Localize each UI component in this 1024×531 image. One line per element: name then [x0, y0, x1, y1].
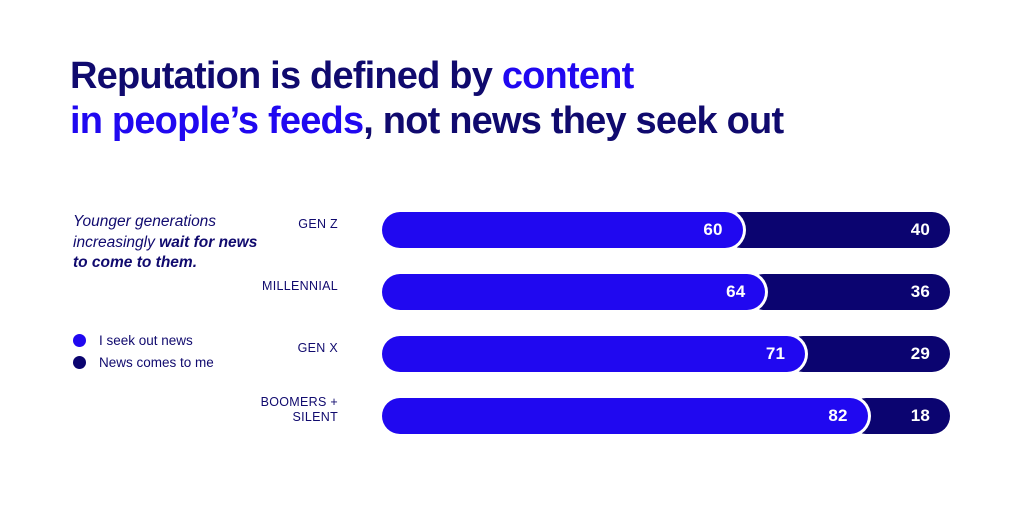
row-label: MILLENNIAL: [168, 268, 338, 304]
chart-row: MILLENNIAL 36 64: [0, 268, 1024, 330]
chart-row: GEN X 29 71: [0, 330, 1024, 392]
bar-value-primary: 82: [828, 406, 867, 426]
bar-value-primary: 60: [703, 220, 742, 240]
bar-segment-secondary: 40: [723, 212, 950, 248]
bar-value-secondary: 40: [911, 220, 950, 240]
bar-segment-primary: 71: [382, 336, 805, 372]
bar-value-secondary: 18: [911, 406, 950, 426]
bar-segment-primary: 60: [382, 212, 743, 248]
row-label: GEN X: [168, 330, 338, 366]
bar-segment-secondary: 36: [746, 274, 950, 310]
title-line-2: in people’s feeds, not news they seek ou…: [70, 100, 783, 142]
bar-track: 36 64: [382, 274, 950, 310]
title-line-1: Reputation is defined by content: [70, 55, 633, 97]
bar-value-secondary: 29: [911, 344, 950, 364]
title-text-accent-1: content: [502, 55, 634, 97]
bar-value-secondary: 36: [911, 282, 950, 302]
title-text-dark-2: , not news they seek out: [363, 100, 783, 142]
bar-segment-secondary: 29: [785, 336, 950, 372]
title-text-accent-2: in people’s feeds: [70, 100, 363, 142]
bar-value-primary: 64: [726, 282, 765, 302]
row-label: GEN Z: [168, 206, 338, 242]
chart-row: GEN Z 40 60: [0, 206, 1024, 268]
bar-track: 29 71: [382, 336, 950, 372]
title-text-dark-1: Reputation is defined by: [70, 55, 502, 97]
bar-track: 18 82: [382, 398, 950, 434]
bar-segment-primary: 82: [382, 398, 868, 434]
page-title: Reputation is defined by content in peop…: [70, 54, 970, 144]
row-label: BOOMERS + SILENT: [168, 392, 338, 428]
chart-row: BOOMERS + SILENT 18 82: [0, 392, 1024, 454]
stacked-bar-chart: GEN Z 40 60 MILLENNIAL 36 64 GEN X 29: [0, 206, 1024, 454]
bar-value-primary: 71: [766, 344, 805, 364]
bar-segment-primary: 64: [382, 274, 765, 310]
bar-track: 40 60: [382, 212, 950, 248]
